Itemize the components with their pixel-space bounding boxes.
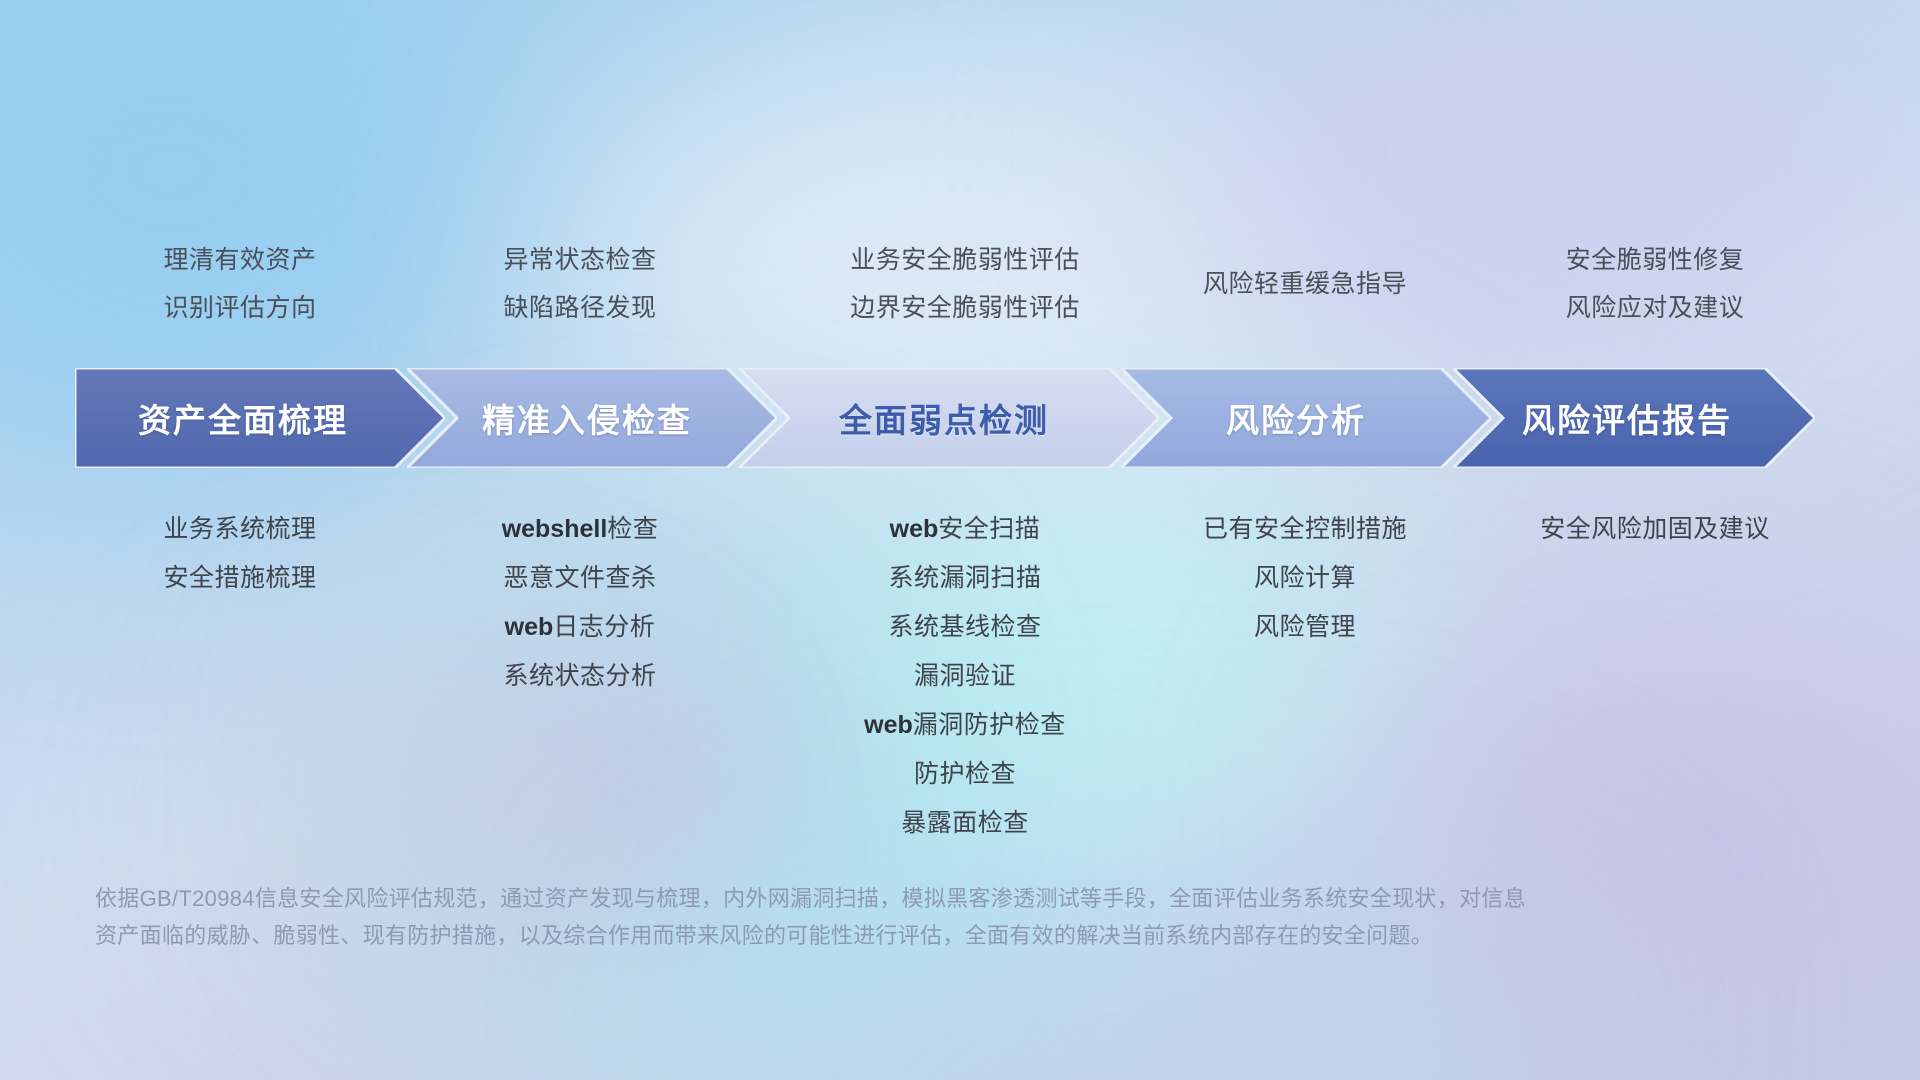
note-line: 理清有效资产	[75, 236, 405, 284]
chevron-label: 资产全面梳理	[138, 394, 348, 442]
list-item: 已有安全控制措施	[1135, 505, 1475, 554]
list-item-cjk: 系统状态分析	[503, 662, 656, 690]
chevron-stage-asset-inventory[interactable]: 资产全面梳理	[75, 368, 445, 468]
list-item: 业务系统梳理	[75, 505, 405, 554]
items-below-stage-4: 已有安全控制措施 风险计算 风险管理	[1135, 505, 1475, 652]
list-item: 漏洞验证	[790, 652, 1140, 701]
note-line: 边界安全脆弱性评估	[790, 284, 1140, 332]
list-item-cjk: 系统基线检查	[888, 613, 1041, 641]
list-item: web日志分析	[420, 603, 740, 652]
note-line: 安全脆弱性修复	[1480, 236, 1830, 284]
list-item-latin: web	[890, 515, 939, 543]
note-line: 识别评估方向	[75, 284, 405, 332]
note-line: 业务安全脆弱性评估	[790, 236, 1140, 284]
chevron-label: 风险分析	[1226, 394, 1366, 442]
footer-line-2: 资产面临的威胁、脆弱性、现有防护措施，以及综合作用而带来风险的可能性进行评估，全…	[95, 917, 1625, 954]
list-item: webshell检查	[420, 505, 740, 554]
list-item-latin: webshell	[502, 515, 608, 543]
notes-above-stage-5: 安全脆弱性修复 风险应对及建议	[1480, 236, 1830, 332]
list-item-latin: web	[505, 613, 554, 641]
chevron-label: 风险评估报告	[1522, 394, 1732, 442]
list-item: web安全扫描	[790, 505, 1140, 554]
notes-above-stage-4: 风险轻重缓急指导	[1135, 260, 1475, 308]
process-chevron-band: 资产全面梳理 精准入侵检查	[75, 368, 1815, 468]
chevron-label: 全面弱点检测	[839, 394, 1049, 442]
note-line: 异常状态检查	[420, 236, 740, 284]
list-item-cjk: 恶意文件查杀	[503, 564, 656, 592]
chevron-stage-risk-analysis[interactable]: 风险分析	[1121, 368, 1491, 468]
notes-above-stage-3: 业务安全脆弱性评估 边界安全脆弱性评估	[790, 236, 1140, 332]
list-item-cjk: 日志分析	[553, 613, 655, 641]
list-item: web漏洞防护检查	[790, 701, 1140, 750]
chevron-stage-weakness-detection[interactable]: 全面弱点检测	[739, 368, 1159, 468]
list-item-cjk: 漏洞验证	[914, 662, 1016, 690]
note-line: 缺陷路径发现	[420, 284, 740, 332]
list-item: 系统基线检查	[790, 603, 1140, 652]
list-item: 风险管理	[1135, 603, 1475, 652]
list-item-cjk: 漏洞防护检查	[913, 711, 1066, 739]
list-item: 系统漏洞扫描	[790, 554, 1140, 603]
list-item-cjk: 防护检查	[914, 760, 1016, 788]
list-item: 系统状态分析	[420, 652, 740, 701]
list-item: 风险计算	[1135, 554, 1475, 603]
items-below-stage-5: 安全风险加固及建议	[1480, 505, 1830, 554]
items-below-stage-3: web安全扫描 系统漏洞扫描 系统基线检查 漏洞验证 web漏洞防护检查 防护检…	[790, 505, 1140, 848]
items-below-stage-2: webshell检查 恶意文件查杀 web日志分析 系统状态分析	[420, 505, 740, 701]
list-item-latin: web	[864, 711, 913, 739]
footer-description: 依据GB/T20984信息安全风险评估规范，通过资产发现与梳理，内外网漏洞扫描，…	[95, 880, 1625, 954]
notes-above-stage-2: 异常状态检查 缺陷路径发现	[420, 236, 740, 332]
list-item-cjk: 系统漏洞扫描	[888, 564, 1041, 592]
items-below-stage-1: 业务系统梳理 安全措施梳理	[75, 505, 405, 603]
list-item: 暴露面检查	[790, 799, 1140, 848]
list-item: 安全措施梳理	[75, 554, 405, 603]
footer-line-1: 依据GB/T20984信息安全风险评估规范，通过资产发现与梳理，内外网漏洞扫描，…	[95, 880, 1625, 917]
list-item: 安全风险加固及建议	[1480, 505, 1830, 554]
list-item: 防护检查	[790, 750, 1140, 799]
list-item: 恶意文件查杀	[420, 554, 740, 603]
note-line: 风险轻重缓急指导	[1135, 260, 1475, 308]
list-item-cjk: 安全扫描	[938, 515, 1040, 543]
process-infographic: 理清有效资产 识别评估方向 异常状态检查 缺陷路径发现 业务安全脆弱性评估 边界…	[0, 0, 1920, 1080]
chevron-stage-assessment-report[interactable]: 风险评估报告	[1453, 368, 1815, 468]
list-item-cjk: 检查	[607, 515, 658, 543]
notes-above-stage-1: 理清有效资产 识别评估方向	[75, 236, 405, 332]
chevron-label: 精准入侵检查	[482, 394, 692, 442]
note-line: 风险应对及建议	[1480, 284, 1830, 332]
list-item-cjk: 暴露面检查	[901, 809, 1029, 837]
chevron-stage-intrusion-check[interactable]: 精准入侵检查	[407, 368, 777, 468]
